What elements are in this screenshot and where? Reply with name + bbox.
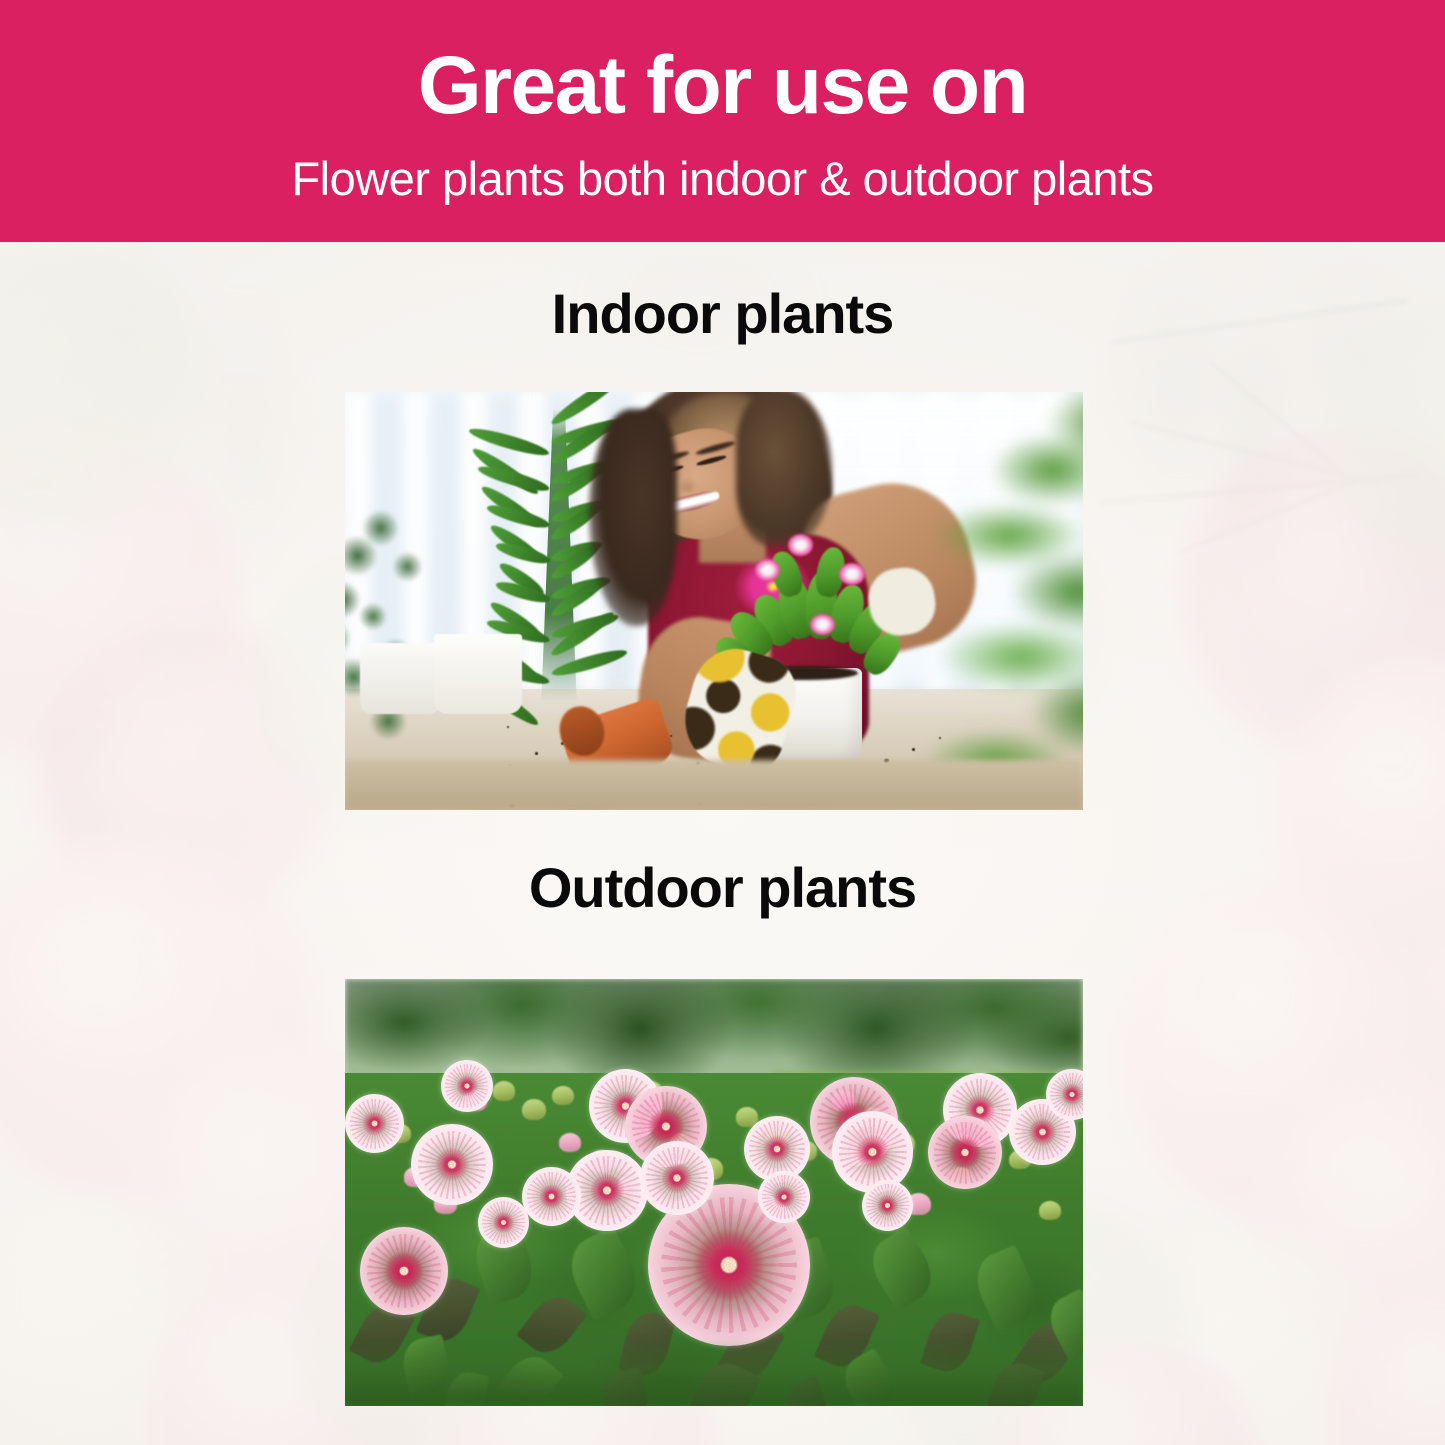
outdoor-hibiscus-17 bbox=[758, 1171, 810, 1223]
cactus-flower-0 bbox=[788, 534, 813, 556]
outdoor-hibiscus-3 bbox=[411, 1124, 492, 1205]
indoor-scene bbox=[345, 392, 1083, 810]
soil-crumb-20 bbox=[670, 735, 672, 737]
outdoor-ground-shadow bbox=[345, 1338, 1083, 1406]
header-title: Great for use on bbox=[418, 45, 1027, 127]
outdoor-bud-1 bbox=[493, 1081, 515, 1101]
outdoor-hibiscus-13 bbox=[441, 1060, 493, 1112]
indoor-foreground-plant bbox=[817, 392, 1083, 810]
photo-outdoor-plants bbox=[345, 979, 1083, 1406]
cactus-flower-1 bbox=[755, 559, 780, 581]
outdoor-hibiscus-4 bbox=[345, 1094, 404, 1153]
outdoor-hibiscus-8 bbox=[832, 1111, 913, 1192]
indoor-pot-b bbox=[434, 634, 523, 713]
outdoor-hibiscus-10 bbox=[928, 1116, 1002, 1190]
outdoor-hibiscus-14 bbox=[522, 1167, 581, 1226]
header-banner: Great for use on Flower plants both indo… bbox=[0, 0, 1445, 242]
indoor-table-edge bbox=[345, 760, 1083, 810]
outdoor-bud-3 bbox=[552, 1086, 574, 1106]
indoor-pot-a bbox=[360, 643, 441, 714]
section-heading-indoor: Indoor plants bbox=[0, 281, 1445, 346]
woman-nose bbox=[678, 478, 697, 492]
outdoor-bud-21 bbox=[559, 1133, 581, 1152]
outdoor-hibiscus-15 bbox=[640, 1141, 714, 1215]
outdoor-hibiscus-5 bbox=[360, 1227, 449, 1316]
header-subtitle: Flower plants both indoor & outdoor plan… bbox=[291, 155, 1153, 202]
outdoor-scene bbox=[345, 979, 1083, 1406]
photo-indoor-plants bbox=[345, 392, 1083, 810]
outdoor-bud-2 bbox=[522, 1099, 546, 1120]
section-heading-outdoor: Outdoor plants bbox=[0, 855, 1445, 920]
infographic-page: Great for use on Flower plants both indo… bbox=[0, 0, 1445, 1445]
outdoor-bud-22 bbox=[1039, 1201, 1061, 1220]
